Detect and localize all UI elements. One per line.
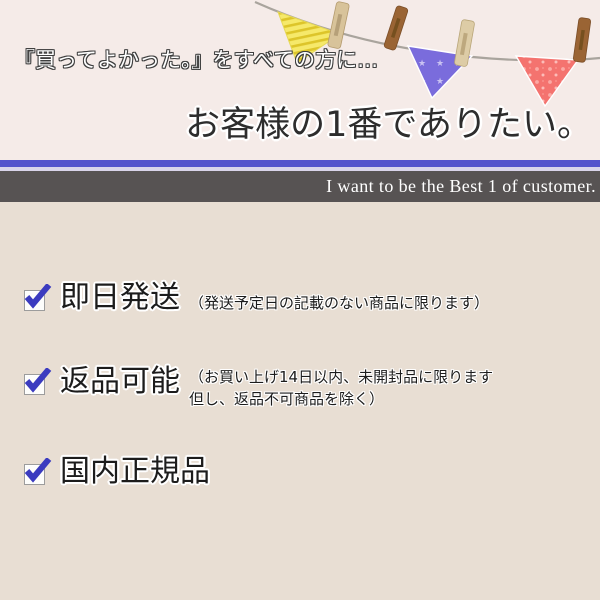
english-tagline: I want to be the Best 1 of customer. — [326, 176, 600, 197]
promise-item-same-day-shipping: 即日発送 （発送予定日の記載のない商品に限ります） — [24, 280, 489, 315]
promise-label: 国内正規品 — [60, 454, 210, 489]
promise-label: 即日発送 — [60, 280, 180, 315]
clothespin-4 — [573, 17, 591, 62]
accent-band-blue — [0, 160, 600, 167]
english-tagline-band: I want to be the Best 1 of customer. — [0, 171, 600, 202]
hero-headline: お客様の1番でありたい。 — [185, 96, 592, 147]
hero-subheading: 『買ってよかった。』をすべての方に… — [14, 44, 378, 74]
promise-note: （発送予定日の記載のない商品に限ります） — [189, 293, 489, 315]
clothespin-3 — [454, 19, 475, 67]
checkbox-checked-icon — [24, 462, 48, 486]
checkbox-checked-icon — [24, 372, 48, 396]
promise-note: （お買い上げ14日以内、未開封品に限ります 但し、返品不可商品を除く） — [189, 367, 493, 411]
clothespin-2 — [383, 5, 408, 51]
promise-item-returnable: 返品可能 （お買い上げ14日以内、未開封品に限ります 但し、返品不可商品を除く） — [24, 364, 493, 411]
promise-item-domestic-genuine: 国内正規品 — [24, 454, 219, 489]
promise-list: 即日発送 （発送予定日の記載のない商品に限ります） 返品可能 （お買い上げ14日… — [0, 202, 600, 600]
promo-banner: ★ — [0, 0, 600, 600]
checkbox-checked-icon — [24, 288, 48, 312]
promise-label: 返品可能 — [60, 364, 180, 399]
hero-section: ★ — [0, 0, 600, 160]
clothespin-1 — [327, 1, 349, 49]
